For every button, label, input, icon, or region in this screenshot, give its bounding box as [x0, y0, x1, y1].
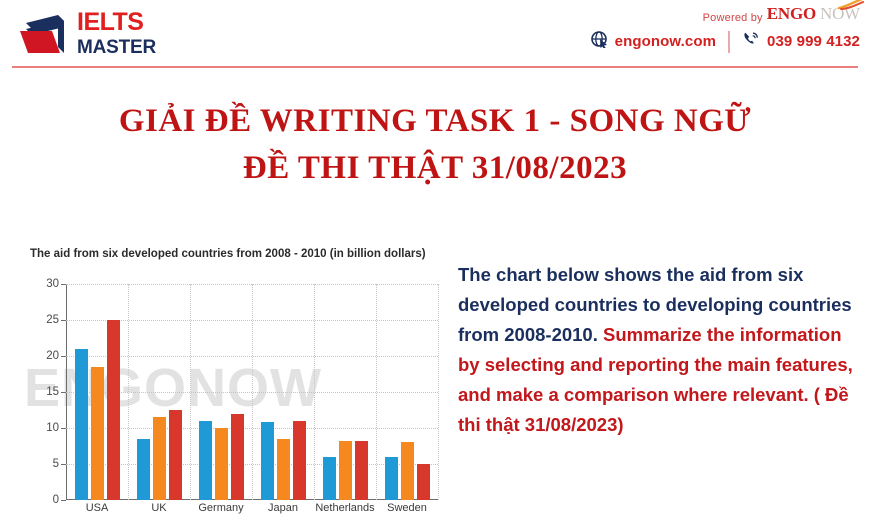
chart-bar [385, 457, 398, 500]
task-prompt: The chart below shows the aid from six d… [458, 260, 866, 440]
brand-logo-text: IELTS MASTER [77, 8, 156, 57]
y-axis-tick-mark [61, 392, 66, 393]
y-axis-tick-mark [61, 500, 66, 501]
x-axis-tick-label: UK [151, 502, 166, 514]
page-title-line-2: ĐỀ THI THẬT 31/08/2023 [0, 145, 870, 192]
content-area: The aid from six developed countries fro… [0, 212, 870, 520]
chart-bar [277, 439, 290, 500]
grid-line-vertical [314, 284, 315, 500]
grid-line-vertical [438, 284, 439, 500]
swoosh-icon [838, 0, 864, 15]
website-link[interactable]: engonow.com [591, 31, 716, 53]
chart-bar [169, 410, 182, 500]
powered-by-engonow: Powered by ENGO NOW [703, 4, 860, 24]
chart-bar [401, 442, 414, 500]
grid-line-vertical [252, 284, 253, 500]
x-axis-tick-label: Germany [198, 502, 243, 514]
brand-logo[interactable]: IELTS MASTER [14, 8, 156, 57]
y-axis-tick-label: 25 [26, 314, 66, 326]
chart-bar [199, 421, 212, 500]
chart-bar [261, 422, 274, 500]
phone-link[interactable]: 039 999 4132 [742, 30, 860, 53]
chart-bar [153, 417, 166, 500]
phone-text: 039 999 4132 [767, 33, 860, 50]
x-axis-tick-label: USA [86, 502, 109, 514]
phone-icon [742, 30, 760, 53]
book-logo-icon [14, 9, 72, 57]
globe-cursor-icon [591, 31, 608, 53]
chart-bar [215, 428, 228, 500]
page-title: GIẢI ĐỀ WRITING TASK 1 - SONG NGỮ ĐỀ THI… [0, 98, 870, 192]
y-axis-tick-label: 5 [26, 458, 66, 470]
chart-bar [75, 349, 88, 500]
website-text: engonow.com [615, 33, 716, 50]
powered-by-label: Powered by [703, 12, 763, 24]
chart-bar [339, 441, 352, 500]
chart-bar [91, 367, 104, 500]
x-axis-tick-label: Netherlands [315, 502, 374, 514]
y-axis-tick-mark [61, 356, 66, 357]
grid-line-vertical [376, 284, 377, 500]
header-divider [12, 66, 858, 68]
page-root: IELTS MASTER Powered by ENGO NOW [0, 0, 870, 520]
y-axis-tick-label: 20 [26, 350, 66, 362]
grid-line-vertical [128, 284, 129, 500]
engonow-bold-text: ENGO [767, 4, 816, 24]
contact-row: engonow.com 039 999 4132 [591, 30, 860, 53]
y-axis-tick-label: 10 [26, 422, 66, 434]
chart-plot-area: 051015202530USAUKGermanyJapanNetherlands… [66, 284, 438, 500]
y-axis-tick-label: 30 [26, 278, 66, 290]
chart-bar [323, 457, 336, 500]
page-header: IELTS MASTER Powered by ENGO NOW [0, 0, 870, 68]
grid-line-vertical [190, 284, 191, 500]
y-axis-tick-label: 15 [26, 386, 66, 398]
y-axis-tick-mark [61, 320, 66, 321]
page-title-line-1: GIẢI ĐỀ WRITING TASK 1 - SONG NGỮ [0, 98, 870, 145]
y-axis-tick-label: 0 [26, 494, 66, 506]
x-axis-tick-label: Japan [268, 502, 298, 514]
logo-ielts-text: IELTS [77, 10, 156, 35]
chart-bar [231, 414, 244, 500]
bar-chart: The aid from six developed countries fro… [18, 212, 450, 520]
contact-divider [728, 31, 730, 53]
chart-bar [417, 464, 430, 500]
y-axis-tick-mark [61, 284, 66, 285]
chart-bar [355, 441, 368, 500]
logo-master-text: MASTER [77, 38, 156, 57]
chart-bar [293, 421, 306, 500]
header-contact-block: Powered by ENGO NOW [591, 4, 860, 53]
x-axis-tick-label: Sweden [387, 502, 427, 514]
chart-bar [107, 320, 120, 500]
chart-bar [137, 439, 150, 500]
y-axis-tick-mark [61, 464, 66, 465]
y-axis-tick-mark [61, 428, 66, 429]
chart-title: The aid from six developed countries fro… [30, 248, 426, 260]
